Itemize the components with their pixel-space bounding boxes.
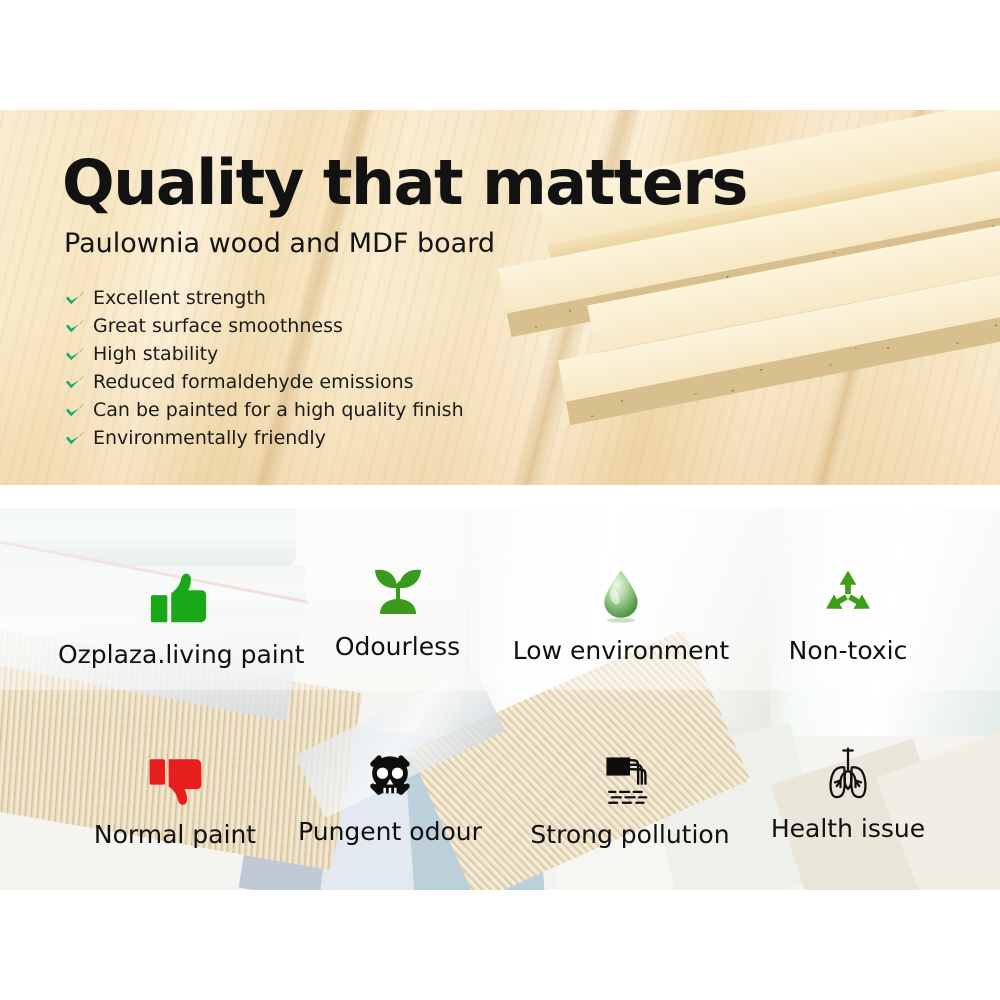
drawback-health-issue: Health issue	[758, 730, 938, 843]
drawback-label: Strong pollution	[530, 820, 730, 849]
list-item-label: Excellent strength	[93, 287, 266, 309]
pollution-pipe-icon	[530, 736, 730, 810]
benefit-label: Non-toxic	[758, 636, 938, 665]
thumbs-down-icon	[75, 736, 275, 810]
list-item: High stability	[64, 341, 584, 367]
check-icon	[64, 289, 86, 307]
check-icon	[64, 345, 86, 363]
list-item-label: Reduced formaldehyde emissions	[93, 371, 414, 393]
drawback-normal-paint: Normal paint	[75, 736, 275, 849]
sprout-icon	[300, 548, 495, 622]
benefit-ozplaza-paint: Ozplaza.living paint	[58, 556, 298, 669]
benefit-label: Odourless	[300, 632, 495, 661]
check-icon	[64, 401, 86, 419]
bottom-white-band	[0, 890, 1000, 1000]
lungs-icon	[758, 730, 938, 804]
drawback-pungent-odour: Pungent odour	[290, 733, 490, 846]
list-item: Great surface smoothness	[64, 313, 584, 339]
feature-list: Excellent strength Great surface smoothn…	[64, 285, 584, 453]
list-item: Excellent strength	[64, 285, 584, 311]
recycle-icon	[758, 552, 938, 626]
check-icon	[64, 373, 86, 391]
list-item: Can be painted for a high quality finish	[64, 397, 584, 423]
benefit-odourless: Odourless	[300, 548, 495, 661]
list-item-label: Can be painted for a high quality finish	[93, 399, 464, 421]
list-item-label: Environmentally friendly	[93, 427, 326, 449]
benefit-non-toxic: Non-toxic	[758, 552, 938, 665]
benefit-label: Ozplaza.living paint	[58, 640, 298, 669]
skull-crossbones-icon	[290, 733, 490, 807]
drawback-label: Normal paint	[75, 820, 275, 849]
list-item: Environmentally friendly	[64, 425, 584, 451]
check-icon	[64, 317, 86, 335]
thumbs-up-icon	[58, 556, 298, 630]
quality-panel: Quality that matters Paulownia wood and …	[0, 110, 1000, 485]
check-icon	[64, 429, 86, 447]
paint-comparison-panel: Ozplaza.living paint Odourless	[0, 508, 1000, 890]
list-item-label: High stability	[93, 343, 218, 365]
list-item: Reduced formaldehyde emissions	[64, 369, 584, 395]
benefit-label: Low environment	[510, 636, 732, 665]
water-droplet-icon	[510, 552, 732, 626]
benefit-low-environment: Low environment	[510, 552, 732, 665]
page-title: Quality that matters	[62, 152, 747, 214]
drawback-label: Pungent odour	[290, 817, 490, 846]
list-item-label: Great surface smoothness	[93, 315, 343, 337]
drawback-label: Health issue	[758, 814, 938, 843]
page-subtitle: Paulownia wood and MDF board	[64, 228, 495, 259]
drawback-strong-pollution: Strong pollution	[530, 736, 730, 849]
